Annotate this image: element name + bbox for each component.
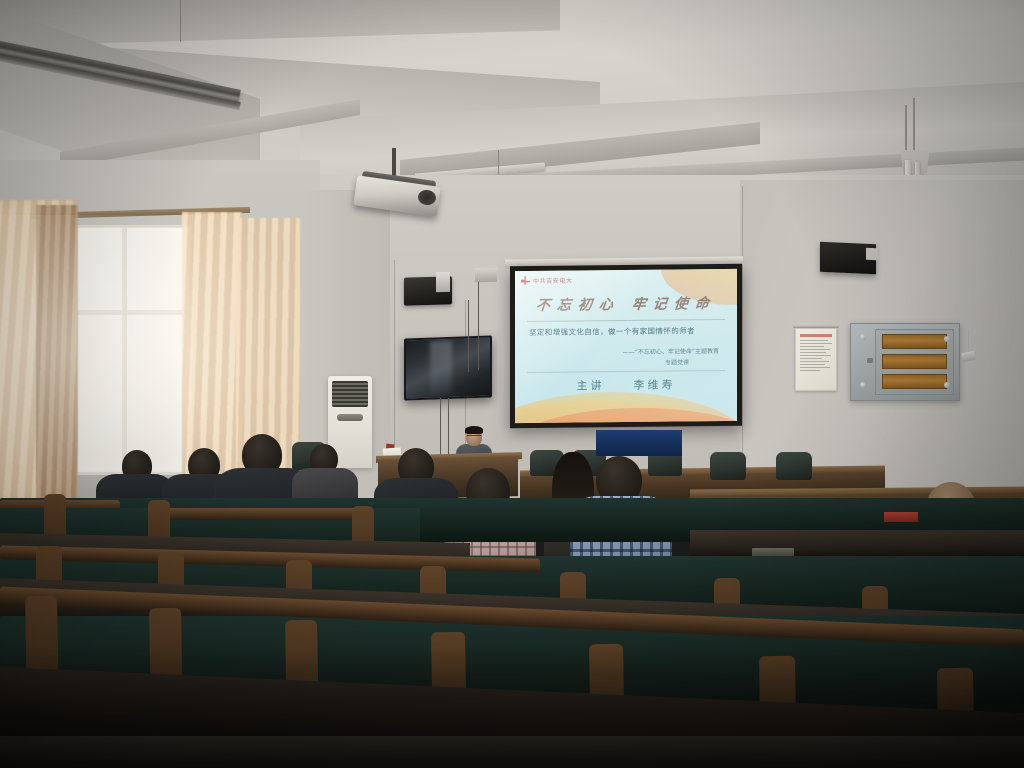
poster-text-line: [800, 364, 825, 365]
poster-text-line: [800, 370, 820, 371]
party-emblem-icon: [521, 276, 530, 285]
poster-text-line: [800, 358, 822, 359]
panel-screw: [860, 334, 866, 340]
floor: [0, 736, 1024, 768]
presenter-hair: [465, 426, 483, 434]
poster-text-line: [800, 355, 831, 356]
slide-body: 坚定和增强文化自信，做一个有家国情怀的师者 ——“不忘初心、牢记使命”主题教育 …: [529, 325, 727, 368]
panel-breaker-row-3: [882, 374, 947, 389]
poster-text-line: [800, 361, 829, 362]
poster-heading: [800, 334, 832, 337]
poster-text-line: [800, 346, 824, 347]
panel-breaker-row-1: [882, 334, 947, 349]
hanger-wire-center: [498, 150, 499, 178]
wall-seam-left: [394, 260, 395, 460]
ac-vent-grille: [332, 381, 368, 407]
pendant-rod-1: [913, 98, 915, 156]
panel-screw: [860, 382, 866, 388]
office-chair[interactable]: [776, 452, 812, 480]
window-mullion-horizontal: [66, 310, 190, 315]
panel-screw: [944, 336, 950, 342]
tv-cable-2: [468, 300, 469, 372]
slide-title: 坚定和增强文化自信，做一个有家国情怀的师者: [529, 325, 727, 338]
slide-speaker-line: 主讲 李维寿: [515, 376, 737, 394]
window-glow: [66, 228, 190, 472]
presenter-glasses: [467, 435, 481, 438]
tv-cable-1: [478, 282, 479, 370]
tv-cable-4: [448, 398, 449, 456]
office-chair[interactable]: [710, 452, 746, 480]
poster-text-line: [800, 367, 830, 368]
slide-speaker-label: 主讲: [577, 379, 605, 392]
poster-text-line: [800, 349, 830, 350]
light-hanger-wire: [180, 0, 181, 42]
tv-cable-3: [440, 398, 441, 460]
projection-screen: 中共吉安电大 不忘初心 牢记使命 坚定和增强文化自信，做一个有家国情怀的师者 —…: [515, 269, 737, 423]
tv-screen-reflection: [430, 341, 452, 396]
bench-desk-a: [690, 530, 1024, 556]
red-folder: [884, 512, 918, 522]
poster-text-line: [800, 352, 826, 353]
slide-organization-name: 中共吉安电大: [533, 276, 573, 285]
poster-text-line: [800, 340, 828, 341]
slide-speaker-name: 李维寿: [634, 378, 676, 391]
wall-junction-box: [475, 268, 497, 283]
pendant-rod-2: [905, 105, 907, 155]
presentation-slide: 中共吉安电大 不忘初心 牢记使命 坚定和增强文化自信，做一个有家国情怀的师者 —…: [515, 269, 737, 423]
slide-subtitle-line2: 专题党课: [529, 357, 727, 368]
electrical-panel-box[interactable]: [850, 323, 960, 401]
slide-calligraphy-slogan: 不忘初心 牢记使命: [515, 293, 737, 315]
wall-notice-poster: [795, 328, 837, 391]
poster-text-line: [800, 343, 832, 344]
slide-divider-bottom: [527, 370, 725, 373]
panel-handle[interactable]: [867, 358, 873, 363]
wall-speaker-right-bracket: [866, 248, 878, 261]
slide-divider-top: [527, 319, 725, 322]
ac-control-panel[interactable]: [337, 414, 363, 421]
bench-rail-b: [160, 508, 360, 520]
rostrum-backdrop-panel: [596, 430, 682, 456]
wall-speaker-bracket: [436, 272, 450, 292]
window-mullion-vertical: [122, 228, 127, 472]
panel-door[interactable]: [875, 329, 954, 395]
panel-breaker-row-2: [882, 354, 947, 369]
curtain-panel-middle: [36, 205, 78, 505]
panel-screw: [944, 382, 950, 388]
slide-header: 中共吉安电大: [521, 276, 573, 286]
lecture-hall-photo: 中共吉安电大 不忘初心 牢记使命 坚定和增强文化自信，做一个有家国情怀的师者 —…: [0, 0, 1024, 768]
